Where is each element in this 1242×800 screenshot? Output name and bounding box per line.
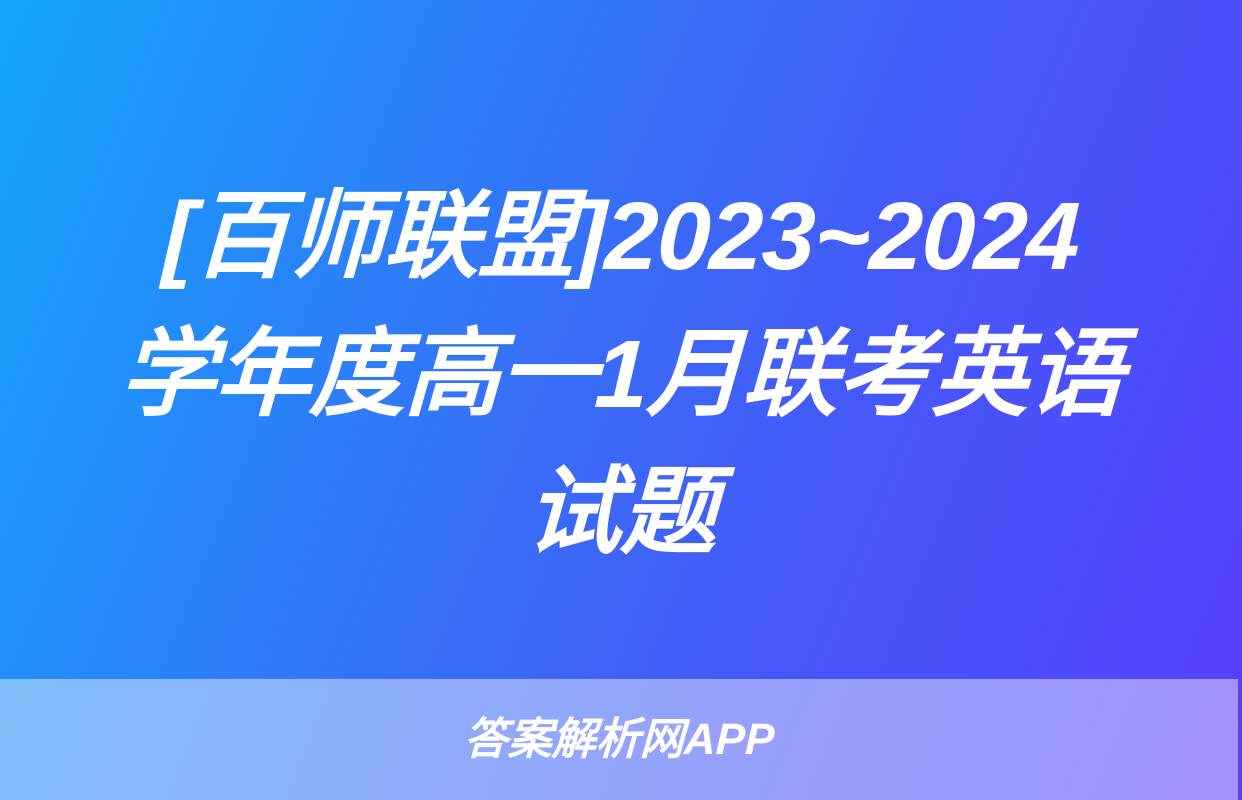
band-right-edge-strip xyxy=(1238,679,1242,800)
page-title: [百师联盟]2023~2024 学年度高一1月联考英语 试题 xyxy=(0,168,1242,582)
title-line-2: 学年度高一1月联考英语 xyxy=(84,306,1159,444)
watermark-text: 答案解析网APP xyxy=(463,714,775,766)
watermark-band: 答案解析网APP xyxy=(0,679,1238,800)
title-line-3: 试题 xyxy=(84,444,1159,582)
title-line-1: [百师联盟]2023~2024 xyxy=(84,168,1159,306)
exam-title-card: [百师联盟]2023~2024 学年度高一1月联考英语 试题 答案解析网APP xyxy=(0,0,1242,800)
